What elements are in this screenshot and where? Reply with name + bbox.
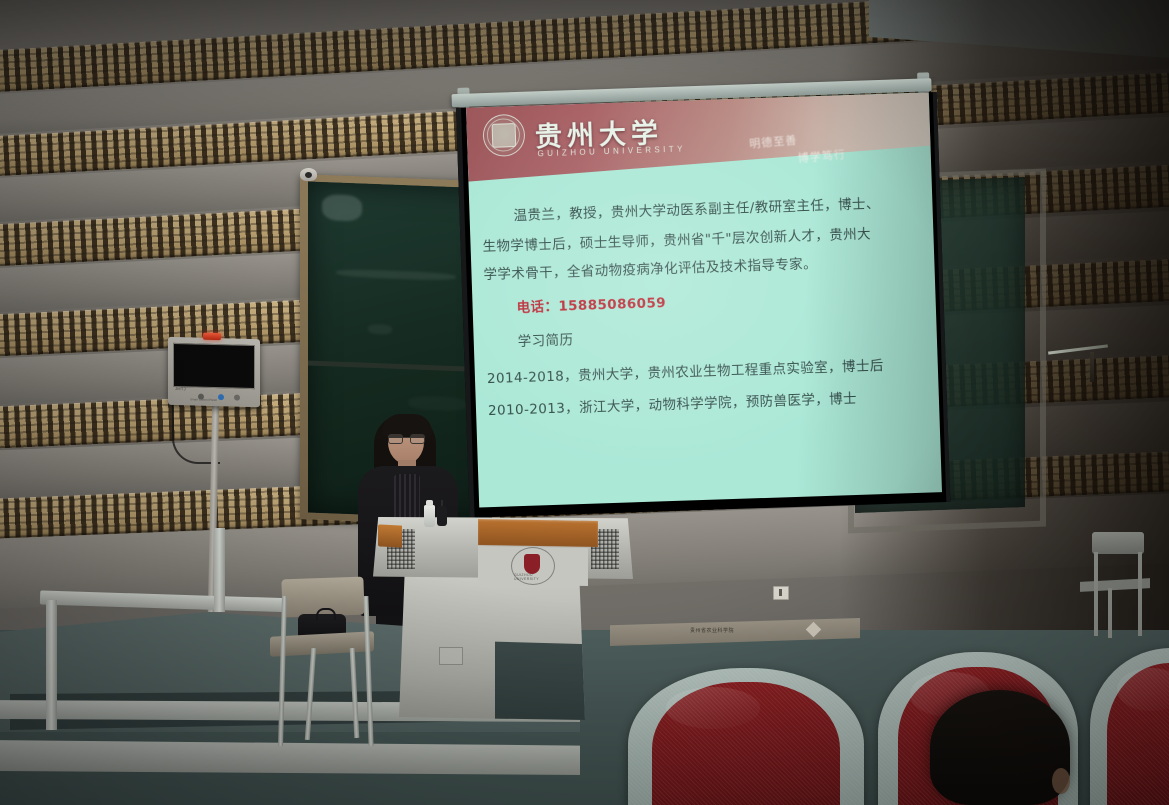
camera-lens-icon [305, 172, 312, 178]
slide-text-line: 温贵兰，教授，贵州大学动医系副主任/教研室主任，博士、 [513, 192, 880, 224]
podium-wood-trim [478, 519, 598, 547]
slide-text-line: 生物学博士后，硕士生导师，贵州省"千"层次创新人才，贵州大 [482, 222, 871, 255]
lecture-hall-photo: JMTJ Smart Control Panel 贵州大学 GUIZHOU UN… [0, 0, 1169, 805]
slide-body: 温贵兰，教授，贵州大学动医系副主任/教研室主任，博士、 生物学博士后，硕士生导师… [469, 172, 942, 507]
slide-motto-line2: 博学笃行 [797, 146, 846, 166]
glasses-bridge [401, 437, 410, 438]
water-bottle [424, 505, 435, 527]
outlet-slot [779, 589, 782, 596]
podium-wood-trim-left [378, 524, 402, 547]
box-diamond-mark [806, 622, 822, 638]
stage-rail-post [214, 528, 225, 612]
presentation-slide: 贵州大学 GUIZHOU UNIVERSITY 明德至善 博学笃行 温贵兰，教授… [466, 92, 942, 507]
microphone [437, 506, 447, 526]
auditorium-seat [628, 668, 864, 805]
guizhou-university-emblem-icon: GUIZHOU UNIVERSITY [511, 547, 553, 583]
chalk-smudge [336, 269, 456, 282]
chair-leg [1108, 588, 1112, 638]
seat-highlight [666, 687, 760, 729]
projection-screen: 贵州大学 GUIZHOU UNIVERSITY 明德至善 博学笃行 温贵兰，教授… [456, 92, 941, 517]
emblem-caption: GUIZHOU UNIVERSITY [514, 573, 553, 581]
screen-frame: 贵州大学 GUIZHOU UNIVERSITY 明德至善 博学笃行 温贵兰，教授… [456, 92, 950, 518]
wooden-chair-with-bag [270, 578, 380, 738]
podium-control-panel[interactable] [439, 647, 463, 665]
glasses-lens [410, 434, 425, 444]
monitor-brand-label: JMTJ [175, 386, 186, 391]
chair-leg [350, 648, 360, 738]
monitor-button[interactable] [234, 395, 240, 401]
lectern-podium[interactable]: GUIZHOU UNIVERSITY [373, 517, 633, 720]
slide-section-heading: 学习简历 [517, 328, 573, 350]
wall-outlet-icon [773, 586, 789, 600]
wall-control-monitor[interactable]: JMTJ Smart Control Panel [168, 337, 260, 407]
chalk-smudge [322, 194, 362, 222]
chair-leg [1094, 552, 1098, 636]
seal-outer-ring [486, 118, 520, 152]
chair-leg [1138, 552, 1142, 636]
slide-phone-line: 电话：15885086059 [516, 291, 666, 316]
metal-chair-right [1078, 532, 1156, 642]
slide-text-line: 2014-2018，贵州大学，贵州农业生物工程重点实验室，博士后 [487, 354, 884, 387]
handbag-handle [316, 608, 336, 620]
seated-attendee [930, 690, 1070, 805]
box-label: 贵州省农业科学院 [690, 627, 734, 634]
chair-backrest [1092, 532, 1144, 554]
power-led-icon [203, 333, 221, 340]
dome-camera-icon [300, 168, 317, 181]
auditorium-seat [1090, 648, 1169, 805]
podium-base [399, 575, 585, 720]
slide-text-line: 2010-2013，浙江大学，动物科学学院，预防兽医学，博士 [488, 387, 858, 419]
monitor-sub-label: Smart Control Panel [190, 397, 217, 402]
chalk-smudge [368, 324, 392, 335]
monitor-button[interactable] [218, 394, 224, 400]
attendee-ear [1052, 768, 1070, 794]
bottle-cap [426, 500, 433, 506]
wall-lamp-stem [1090, 352, 1094, 382]
monitor-screen [173, 343, 255, 389]
chair-leg [278, 596, 287, 746]
glasses-icon [388, 434, 423, 442]
stage-step [0, 740, 580, 775]
chair-leg [305, 648, 316, 740]
emblem-shield [524, 554, 540, 574]
slide-text-line: 学学术骨干，全省动物疫病净化评估及技术指导专家。 [483, 252, 817, 283]
glasses-lens [388, 434, 403, 444]
stage-rail-post [46, 600, 57, 730]
